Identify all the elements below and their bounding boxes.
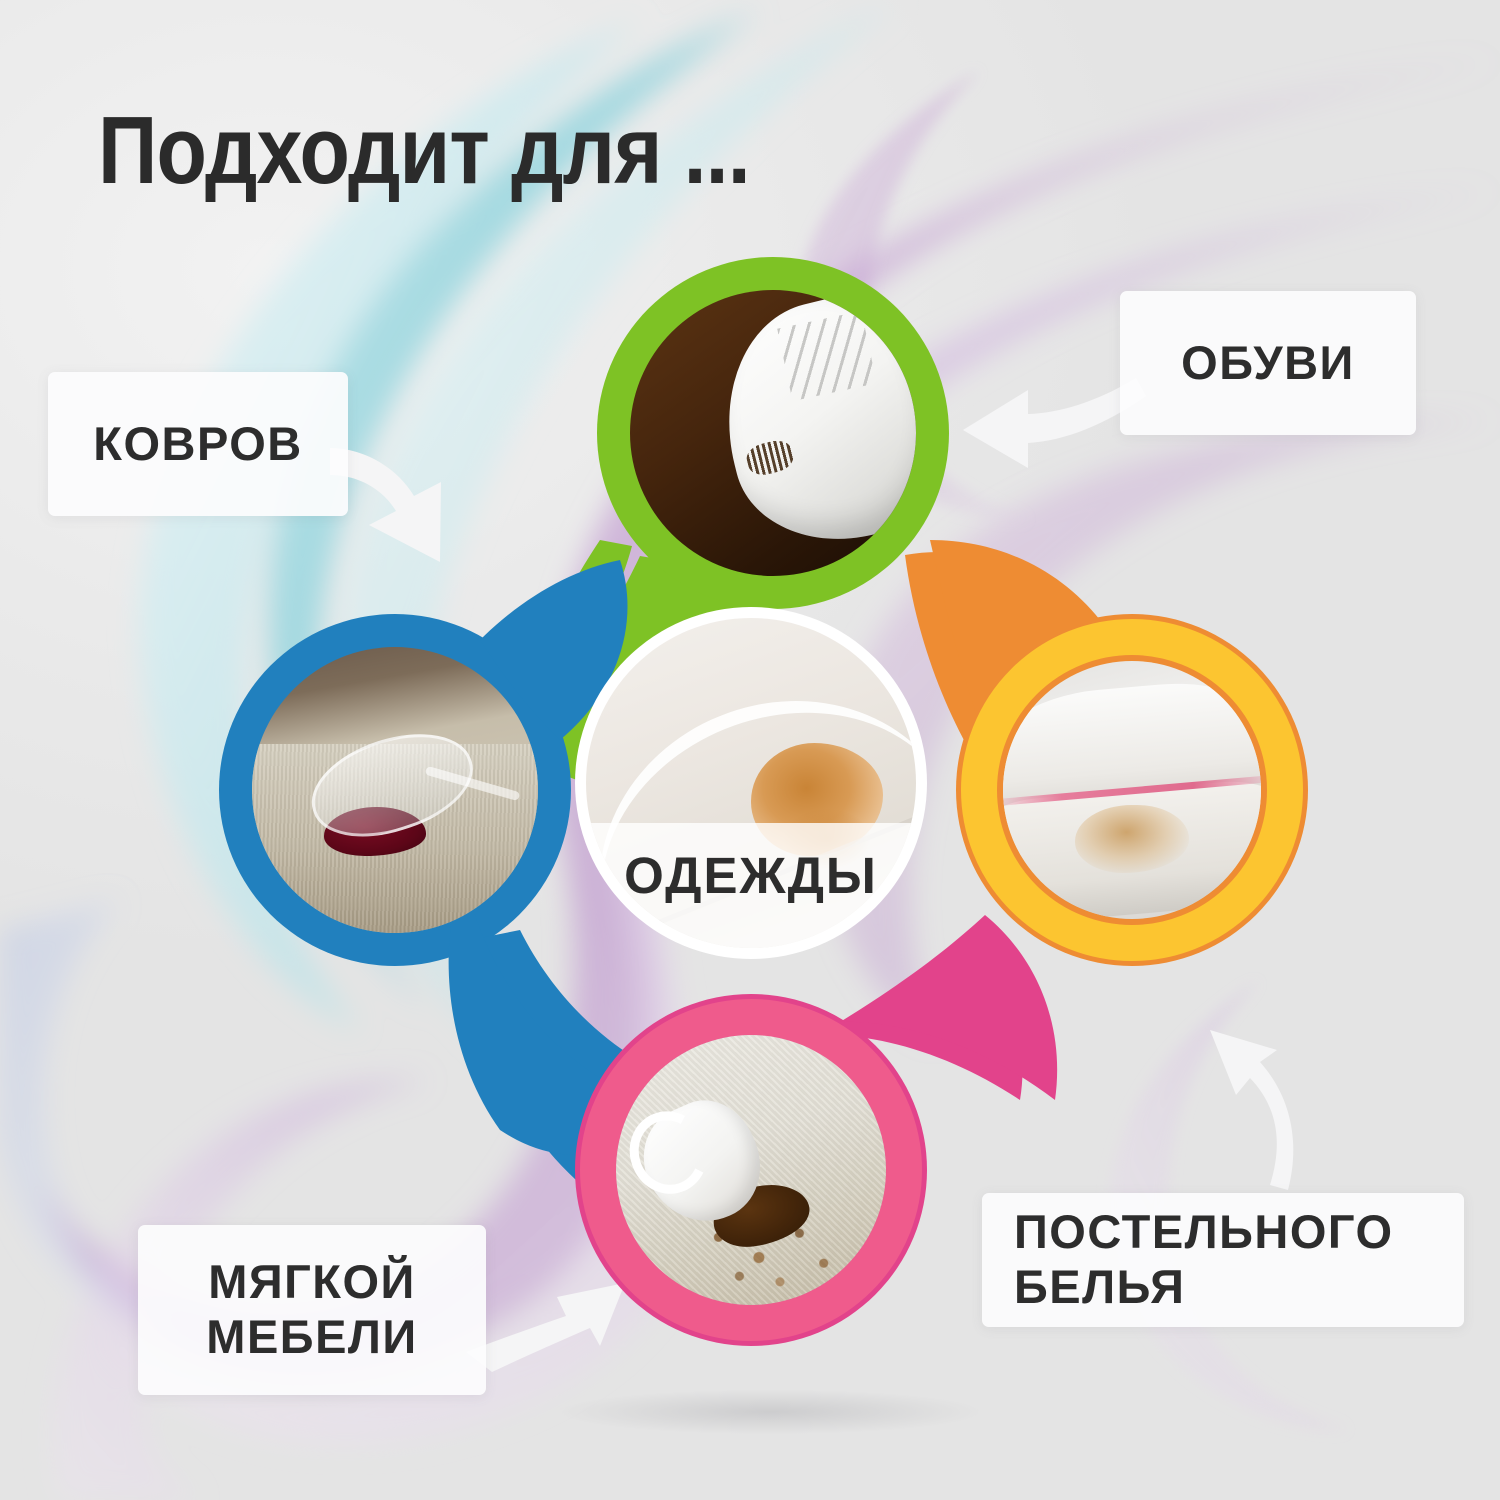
label-text-linen-line2: БЕЛЬЯ <box>1014 1260 1394 1315</box>
label-chip-bed-linen[interactable]: ПОСТЕЛЬНОГО БЕЛЬЯ <box>982 1193 1464 1327</box>
label-chip-upholstered-furniture[interactable]: МЯГКОЙ МЕБЕЛИ <box>138 1225 486 1395</box>
pillow-photo <box>1003 661 1261 919</box>
label-text-linen-line1: ПОСТЕЛЬНОГО <box>1014 1205 1394 1260</box>
carpet-wine-photo <box>252 647 538 933</box>
label-text-carpets: КОВРОВ <box>93 417 302 472</box>
label-chip-shoes[interactable]: ОБУВИ <box>1120 291 1416 435</box>
infographic-canvas: Подходит для ... <box>0 0 1500 1500</box>
label-text-furniture-line2: МЕБЕЛИ <box>206 1310 417 1365</box>
label-chip-carpets[interactable]: КОВРОВ <box>48 372 348 516</box>
shoe-photo <box>630 290 916 576</box>
label-text-furniture-line1: МЯГКОЙ <box>206 1255 417 1310</box>
coffee-carpet-photo <box>616 1035 886 1305</box>
cluster-drop-shadow <box>560 1390 980 1434</box>
label-text-shoes: ОБУВИ <box>1181 336 1355 391</box>
center-label-clothes: ОДЕЖДЫ <box>586 846 916 905</box>
clothes-photo: ОДЕЖДЫ <box>586 618 916 948</box>
